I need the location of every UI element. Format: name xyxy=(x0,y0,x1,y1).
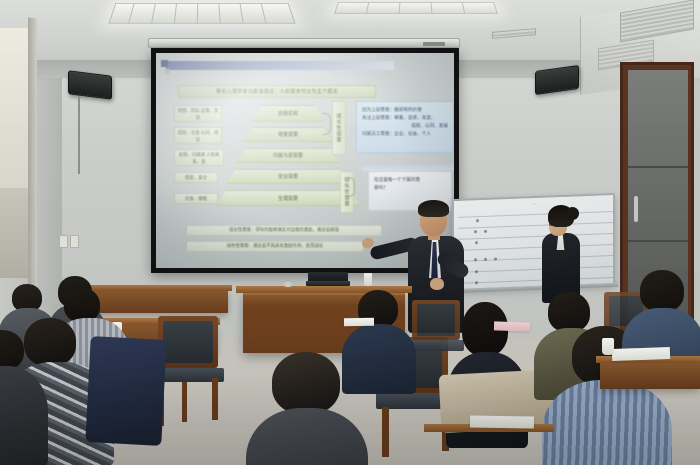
presentation-laptop[interactable] xyxy=(306,281,350,286)
pyramid-tier-2: 尊重需要 xyxy=(244,127,332,142)
ceiling-light-left xyxy=(108,3,296,24)
paper-right-1 xyxy=(612,347,670,361)
slide-banner-text: 著名心理学家马斯洛观点：人的需求可分为五个层次 xyxy=(179,86,375,99)
paper-front-center xyxy=(470,415,534,428)
speaker-cable-left xyxy=(78,96,80,174)
slide-connector-bottom xyxy=(346,177,355,197)
assistant-at-whiteboard xyxy=(538,205,584,301)
slide-note-3: 友情、归属感 人际关系、爱 xyxy=(174,149,224,166)
door-handle[interactable] xyxy=(634,196,638,222)
desk-front-right xyxy=(600,363,700,389)
slide-white-line-1: 在这里每一个下属的需 xyxy=(374,176,446,184)
ceiling-light-center xyxy=(334,2,498,14)
screen-roller-housing xyxy=(148,38,460,48)
roller-badge xyxy=(423,42,445,46)
wall-outlet-2[interactable] xyxy=(70,235,79,248)
whiteboard-mark-b: — xyxy=(532,201,536,206)
presenter-gesturing-hand xyxy=(430,278,444,290)
slide-bottom-box-2: 缺失性需要：满足后不再具有激励作用，反而弱化 xyxy=(186,241,364,252)
pyramid-tier-3: 归属与爱需要 xyxy=(236,148,340,163)
wall-outlet-1[interactable] xyxy=(59,235,68,248)
slide-blue-box: 因为上层需要：做到有的价值 关注上层需要：尊重、追求、肯定、 成就、认同、发展 … xyxy=(356,101,454,153)
paper-podium-side xyxy=(344,318,374,327)
slide-bottom-box-1: 成长性需要：得有的能够满足对自我的激励，满足后越强 xyxy=(186,225,382,236)
paper-pink xyxy=(494,321,530,331)
slide-note-1: 理想、目标 自我、实现 xyxy=(174,105,222,122)
slide-note-2: 成就、名誉 认同、地位 xyxy=(174,127,222,144)
computer-mouse[interactable] xyxy=(284,282,292,287)
navy-coat-on-chair xyxy=(85,336,166,446)
presenter-hair xyxy=(418,200,449,217)
slide-banner: 著名心理学家马斯洛观点：人的需求可分为五个层次 xyxy=(178,85,376,98)
pyramid-tier-5: 生理需要 xyxy=(216,190,360,206)
slide-white-line-2: 要吗？ xyxy=(374,184,446,192)
slide-blue-line-4: 归属员工需要：企业、社会、个人 xyxy=(362,130,448,138)
slide-note-5: 饮食、睡眠 xyxy=(174,193,218,204)
slide-blue-line-2: 关注上层需要：尊重、追求、肯定、 xyxy=(362,114,448,122)
pyramid-tier-4: 安全需要 xyxy=(226,169,350,184)
window-frame xyxy=(28,17,37,308)
pyramid-tier-1: 自我实现 xyxy=(252,105,324,122)
paper-cup-lectern xyxy=(364,273,372,286)
desk-front-left-rear xyxy=(86,291,228,313)
whiteboard-mark-c: · xyxy=(572,199,573,204)
slide-title-marker xyxy=(161,60,168,67)
slide-title-bar xyxy=(166,61,394,70)
paper-cup-right xyxy=(602,338,614,355)
slide-blue-line-1: 因为上层需要：做到有的价值 xyxy=(362,106,448,114)
window-blind xyxy=(0,28,31,188)
slide-vertical-label-growth: 成长性需要 xyxy=(332,101,346,155)
empty-chair-back-right[interactable] xyxy=(408,300,464,370)
slide-title-marker-small xyxy=(165,69,170,74)
classroom-photo: 著名心理学家马斯洛观点：人的需求可分为五个层次 理想、目标 自我、实现 成就、名… xyxy=(0,0,700,465)
slide-connector-top xyxy=(322,113,331,135)
slide-note-4: 稳定、安全 xyxy=(174,172,218,183)
assistant-hair-bun xyxy=(566,207,579,220)
slide-blue-line-3: 成就、认同、发展 xyxy=(362,122,448,130)
